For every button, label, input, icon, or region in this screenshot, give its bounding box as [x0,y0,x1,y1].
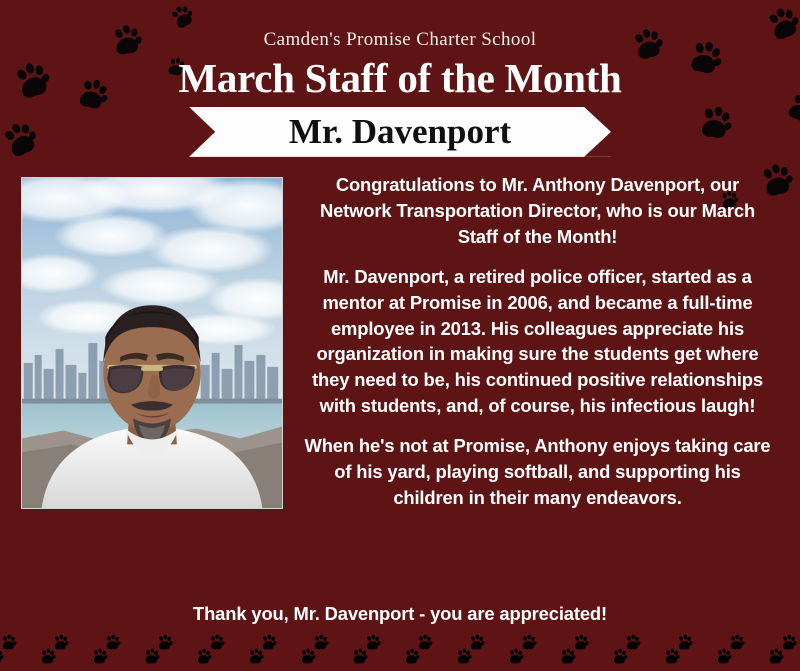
paragraph-2: Mr. Davenport, a retired police officer,… [301,264,774,420]
paw-print-icon [247,648,299,665]
page-title: March Staff of the Month [0,58,800,100]
closing-line: Thank you, Mr. Davenport - you are appre… [0,601,800,627]
paw-border-row-bottom [0,648,800,665]
paw-print-icon [403,648,455,665]
paw-print-icon [195,648,247,665]
paw-print-icon [559,648,611,665]
honoree-name: Mr. Davenport [289,114,511,149]
honoree-ribbon: Mr. Davenport [0,106,800,158]
paragraph-1: Congratulations to Mr. Anthony Davenport… [301,172,774,250]
flyer-body: Congratulations to Mr. Anthony Davenport… [0,172,800,511]
paw-print-icon [143,648,195,665]
ribbon-shape: Mr. Davenport [189,107,611,157]
school-name: Camden's Promise Charter School [0,30,800,49]
paw-print-icon [0,648,39,665]
flyer-header: Camden's Promise Charter School March St… [0,0,800,100]
paw-print-icon [351,648,403,665]
paw-print-icon [715,648,767,665]
paw-print-icon [611,648,663,665]
paw-print-icon [91,648,143,665]
paw-print-icon [663,648,715,665]
staff-of-the-month-flyer: Camden's Promise Charter School March St… [0,0,800,671]
honoree-photo [21,177,283,509]
paw-print-icon [455,648,507,665]
paw-print-icon [299,648,351,665]
paragraph-3: When he's not at Promise, Anthony enjoys… [301,433,774,511]
paw-print-border [0,629,800,671]
paw-print-icon [507,648,559,665]
paw-print-icon [39,648,91,665]
paw-print-icon [767,648,800,665]
flyer-copy: Congratulations to Mr. Anthony Davenport… [301,172,782,511]
